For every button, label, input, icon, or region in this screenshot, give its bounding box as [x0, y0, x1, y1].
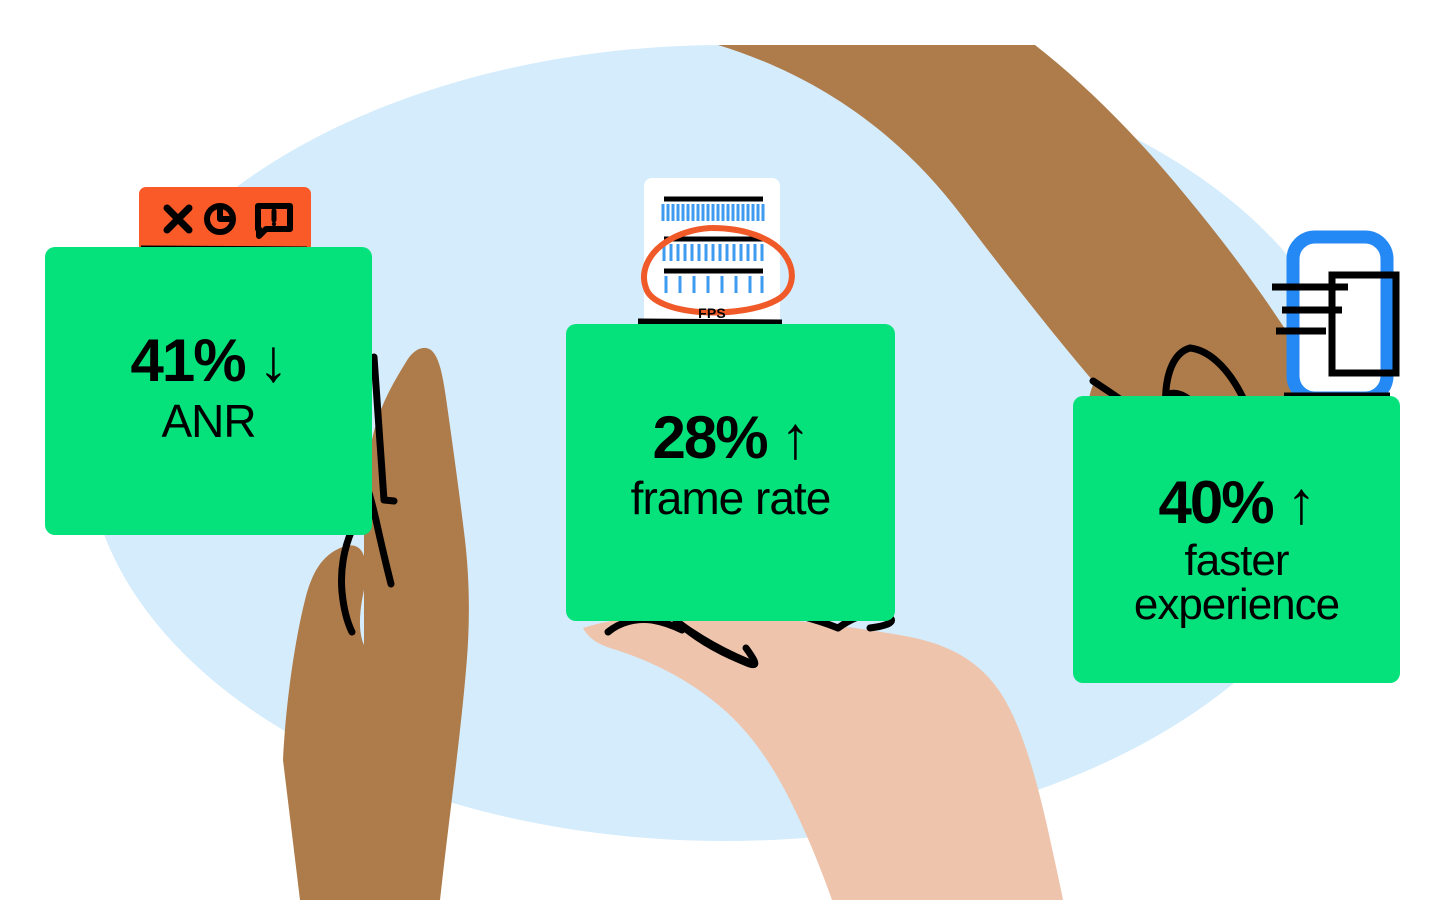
frame-rate-stat-value: 28%	[652, 404, 766, 471]
fps-row-ticks-1	[663, 204, 763, 221]
anr-label: ANR	[45, 398, 372, 446]
faster-experience-stat-line: 40%↑	[1073, 472, 1400, 534]
faster-experience-label-line2: experience	[1073, 582, 1400, 628]
phone-speed-icon	[1272, 237, 1396, 398]
frame-rate-label: frame rate	[566, 475, 895, 523]
illustration-root: 41%↓ ANR 28%↑ frame rate 40%↑ faster exp…	[0, 0, 1440, 900]
faster-experience-card-text-group: 40%↑ faster experience	[1073, 472, 1400, 628]
faster-experience-stat-arrow-icon: ↑	[1287, 469, 1315, 536]
faster-experience-label-line1: faster	[1073, 538, 1400, 584]
frame-rate-stat-line: 28%↑	[566, 407, 895, 469]
error-banner	[139, 187, 311, 253]
fps-label: FPS	[644, 305, 780, 321]
frame-rate-stat-arrow-icon: ↑	[781, 404, 809, 471]
anr-stat-value: 41%	[130, 327, 244, 394]
fps-row-ticks-2	[664, 244, 762, 261]
anr-card-text-group: 41%↓ ANR	[45, 330, 372, 446]
anr-stat-arrow-icon: ↓	[259, 327, 287, 394]
frame-rate-card-text-group: 28%↑ frame rate	[566, 407, 895, 523]
fps-chart-card	[638, 178, 792, 326]
anr-stat-line: 41%↓	[45, 330, 372, 392]
faster-experience-stat-value: 40%	[1158, 469, 1272, 536]
fps-card-base-line	[638, 322, 782, 323]
